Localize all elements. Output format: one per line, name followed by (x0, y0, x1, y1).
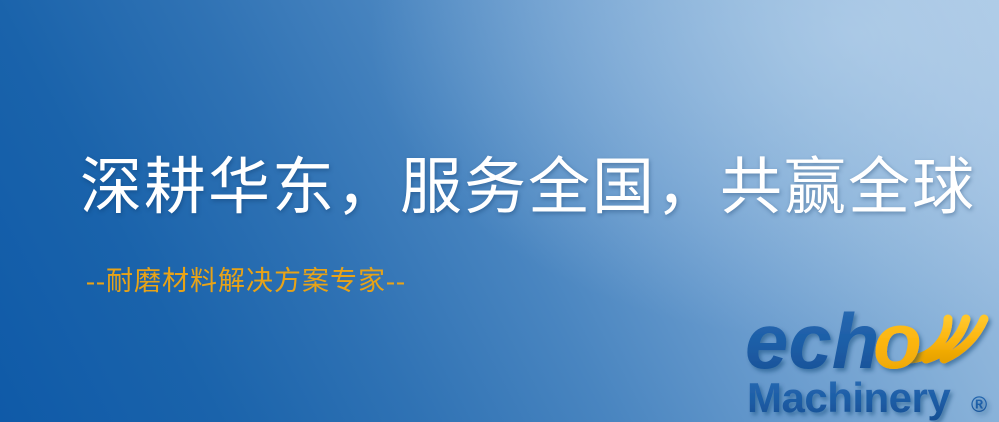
logo-wordmark-dark: ech (745, 297, 879, 385)
logo-artwork: ech o Machinery ® (745, 296, 999, 422)
hero-banner: 深耕华东，服务全国，共赢全球 --耐磨材料解决方案专家-- (0, 0, 999, 422)
echo-machinery-logo[interactable]: ech o Machinery ® (745, 296, 999, 422)
logo-wordmark-accent: o (873, 296, 922, 385)
logo-subbrand: Machinery (747, 374, 951, 421)
logo-trademark-symbol: ® (971, 392, 987, 417)
banner-headline: 深耕华东，服务全国，共赢全球 (80, 152, 976, 224)
banner-subline: --耐磨材料解决方案专家-- (86, 264, 406, 298)
